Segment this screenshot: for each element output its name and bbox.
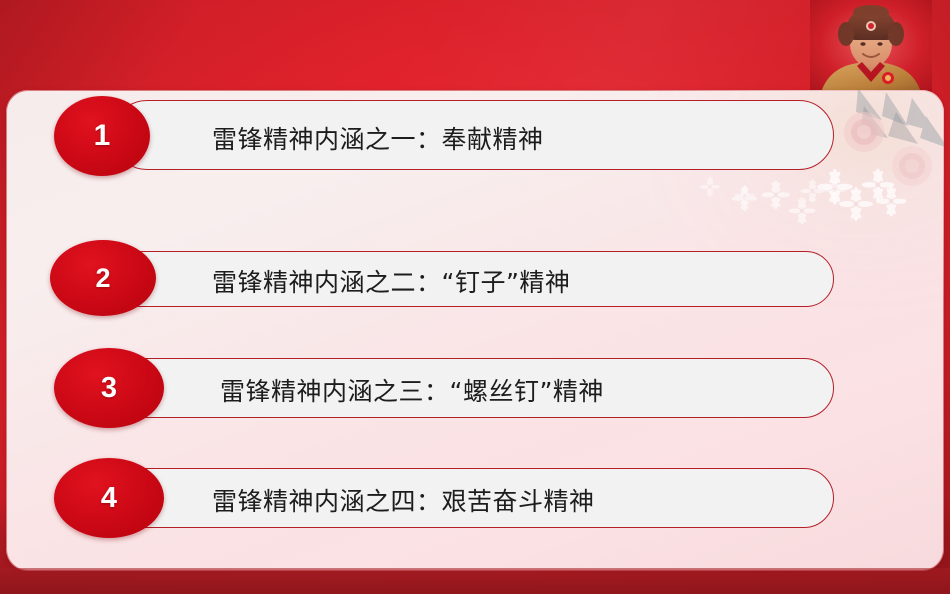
row-number-badge: 4: [54, 458, 164, 538]
row-label: 雷锋精神内涵之二：“钉子”精神: [212, 263, 570, 299]
slide-root: 1 雷锋精神内涵之一：奉献精神 2 雷锋精神内涵之二：“钉子”精神 3 雷锋精神…: [0, 0, 950, 594]
row-number-badge: 1: [54, 96, 150, 176]
lei-feng-portrait-image: [810, 0, 932, 96]
row-number-badge: 2: [50, 240, 156, 316]
row-number-badge: 3: [54, 348, 164, 428]
row-label: 雷锋精神内涵之三：“螺丝钉”精神: [220, 372, 604, 408]
bottom-band: [0, 568, 950, 594]
row-label: 雷锋精神内涵之四：艰苦奋斗精神: [212, 482, 595, 518]
row-label: 雷锋精神内涵之一：奉献精神: [212, 120, 544, 156]
